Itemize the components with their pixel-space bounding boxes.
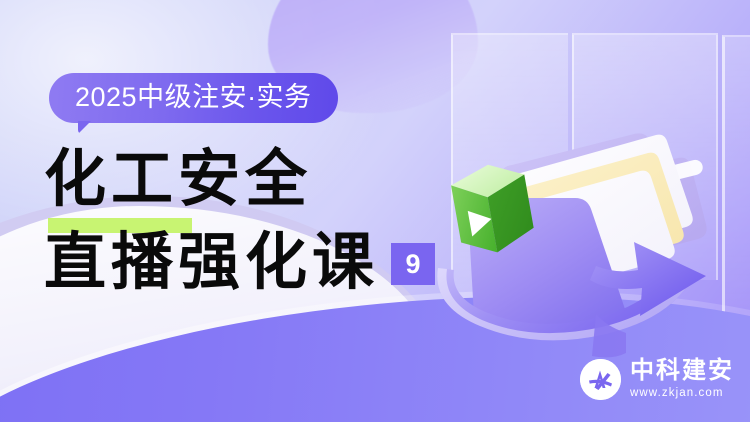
course-tag-label: 2025中级注安·实务	[75, 82, 312, 112]
headline-line-2-row: 直播强化课9	[44, 228, 435, 297]
course-tag-pill: 2025中级注安·实务	[49, 73, 338, 123]
headline-block: 化工安全 直播强化课9	[44, 145, 435, 298]
course-illustration	[420, 120, 730, 370]
brand-name: 中科建安	[630, 359, 734, 383]
course-tag: 2025中级注安·实务	[49, 73, 338, 123]
brand-logo-mark-icon	[580, 359, 621, 400]
brand-logo-text: 中科建安 www.zkjan.com	[630, 359, 734, 400]
headline-line-1: 化工安全	[44, 145, 312, 214]
pill-tail-icon	[78, 121, 91, 134]
course-promo-banner: 2025中级注安·实务 化工安全 直播强化课9 中科建安 www.zkjan.c…	[0, 0, 750, 422]
headline-line-1-row: 化工安全	[44, 145, 435, 214]
brand-url: www.zkjan.com	[630, 388, 734, 400]
episode-number-badge: 9	[391, 243, 435, 285]
brand-logo: 中科建安 www.zkjan.com	[580, 359, 734, 400]
headline-line-2: 直播强化课	[44, 228, 379, 297]
